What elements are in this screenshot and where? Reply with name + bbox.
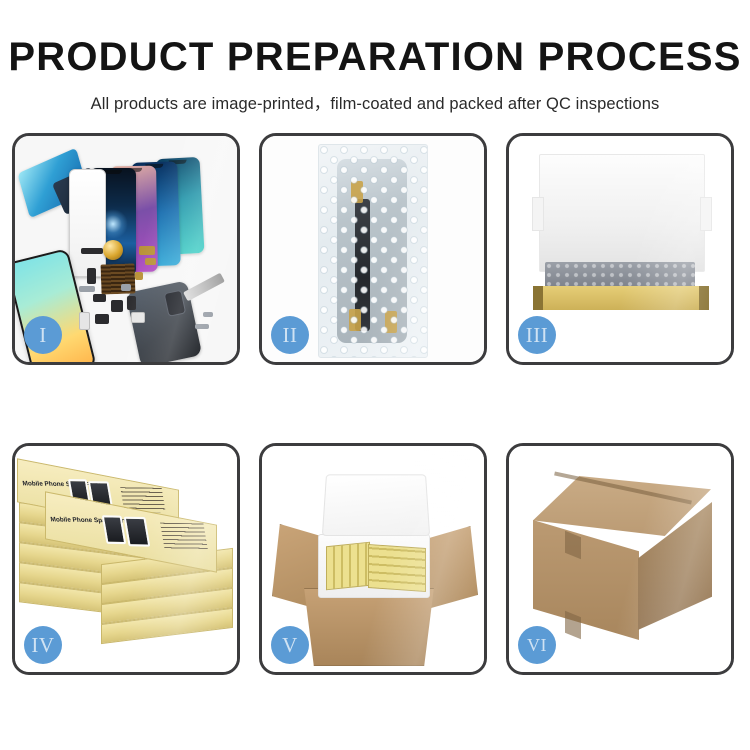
spare-part-icon: [79, 286, 95, 292]
step-panel-3[interactable]: III: [506, 133, 734, 365]
step-badge-4: IV: [24, 626, 62, 664]
spare-part-icon: [93, 294, 106, 302]
kraft-box-front-icon: [533, 286, 709, 310]
spare-part-icon: [127, 296, 136, 310]
spare-part-icon: [145, 258, 156, 265]
spare-part-icon: [81, 248, 103, 254]
spare-part-icon: [79, 312, 90, 330]
box-window-icon: [124, 517, 151, 547]
spare-part-icon: [135, 272, 143, 280]
page-subtitle: All products are image-printed，film-coat…: [0, 90, 750, 114]
step-panel-4[interactable]: Mobile Phone Spare Parts Mobile Phone Sp…: [12, 443, 240, 675]
step-panel-5[interactable]: V: [259, 443, 487, 675]
page-title: PRODUCT PREPARATION PROCESS: [0, 36, 750, 78]
gold-pack-stack-icon: [368, 544, 426, 592]
step-badge-6: VI: [518, 626, 556, 664]
box-spec-lines: [160, 523, 208, 550]
spare-part-icon: [121, 284, 131, 291]
step-panel-1[interactable]: I: [12, 133, 240, 365]
bubble-texture-icon: [319, 145, 427, 357]
process-steps-grid: I II III: [12, 133, 738, 675]
bubble-wrap-bag-icon: [318, 144, 428, 358]
box-tab-right-icon: [699, 286, 709, 310]
gold-coil-icon: [103, 240, 123, 260]
white-box-lid-icon: [539, 154, 705, 272]
spare-part-icon: [87, 268, 96, 284]
page-header: PRODUCT PREPARATION PROCESS All products…: [0, 0, 750, 114]
step-panel-6[interactable]: VI: [506, 443, 734, 675]
spare-part-icon: [203, 312, 213, 317]
step-panel-2[interactable]: II: [259, 133, 487, 365]
carton-body-icon: [300, 588, 438, 666]
spare-part-icon: [95, 314, 109, 324]
spare-part-icon: [111, 300, 123, 312]
gold-pack-stack-icon: [326, 542, 370, 591]
step-badge-3: III: [518, 316, 556, 354]
spare-part-icon: [195, 324, 209, 329]
box-tab-left-icon: [533, 286, 543, 310]
foam-case-lid-icon: [322, 474, 430, 536]
screen-glass-icon: [69, 169, 106, 277]
step-badge-5: V: [271, 626, 309, 664]
step-badge-1: I: [24, 316, 62, 354]
spare-part-icon: [139, 246, 155, 255]
step-badge-2: II: [271, 316, 309, 354]
spare-part-icon: [131, 312, 145, 323]
